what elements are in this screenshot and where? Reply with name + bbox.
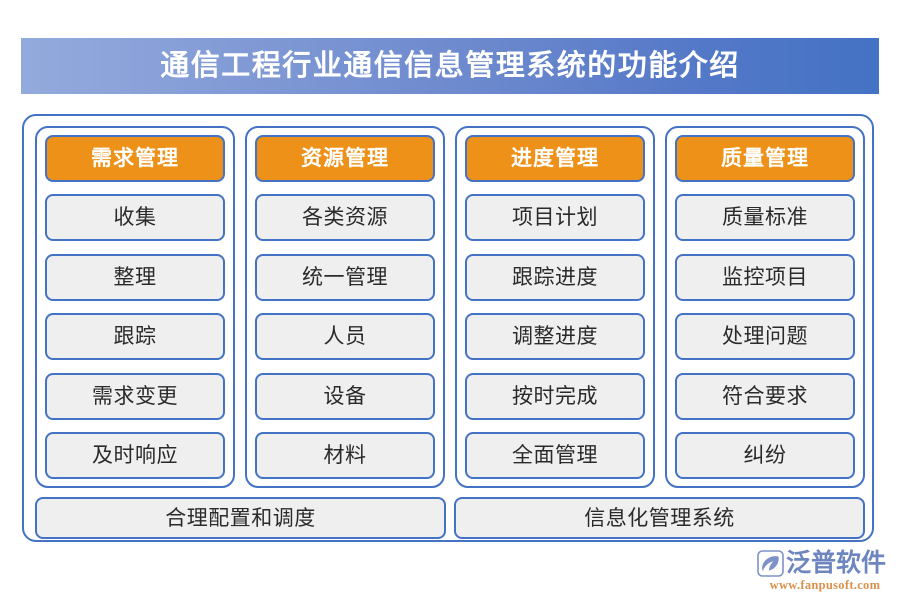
title-banner: 通信工程行业通信信息管理系统的功能介绍	[21, 38, 879, 94]
bottom-bar-resource-allocation[interactable]: 合理配置和调度	[35, 497, 446, 539]
column-3-item-5[interactable]: 全面管理	[465, 432, 645, 479]
slide-canvas: 通信工程行业通信信息管理系统的功能介绍 需求管理 收集 整理 跟踪 需求变更 及…	[0, 0, 900, 600]
column-header-4[interactable]: 质量管理	[675, 135, 855, 182]
column-progress-management: 进度管理 项目计划 跟踪进度 调整进度 按时完成 全面管理	[455, 126, 655, 488]
bottom-bars-row: 合理配置和调度 信息化管理系统	[35, 497, 865, 539]
column-requirement-management: 需求管理 收集 整理 跟踪 需求变更 及时响应	[35, 126, 235, 488]
bottom-bar-information-system[interactable]: 信息化管理系统	[454, 497, 865, 539]
column-3-item-1[interactable]: 项目计划	[465, 194, 645, 241]
column-2-item-3[interactable]: 人员	[255, 313, 435, 360]
column-quality-management: 质量管理 质量标准 监控项目 处理问题 符合要求 纠纷	[665, 126, 865, 488]
column-3-item-4[interactable]: 按时完成	[465, 373, 645, 420]
column-3-item-2[interactable]: 跟踪进度	[465, 254, 645, 301]
column-4-item-5[interactable]: 纠纷	[675, 432, 855, 479]
page-title: 通信工程行业通信信息管理系统的功能介绍	[160, 52, 740, 81]
logo-top-row: 泛普软件	[757, 548, 893, 578]
column-1-item-3[interactable]: 跟踪	[45, 313, 225, 360]
column-1-item-2[interactable]: 整理	[45, 254, 225, 301]
fanpu-swoosh-icon	[757, 550, 784, 577]
column-1-item-5[interactable]: 及时响应	[45, 432, 225, 479]
company-logo: 泛普软件 www.fanpusoft.com	[757, 548, 893, 592]
column-header-1[interactable]: 需求管理	[45, 135, 225, 182]
column-3-item-3[interactable]: 调整进度	[465, 313, 645, 360]
column-header-2[interactable]: 资源管理	[255, 135, 435, 182]
diagram-outer-frame: 需求管理 收集 整理 跟踪 需求变更 及时响应 资源管理 各类资源 统一管理 人…	[22, 114, 874, 542]
column-1-item-1[interactable]: 收集	[45, 194, 225, 241]
columns-row: 需求管理 收集 整理 跟踪 需求变更 及时响应 资源管理 各类资源 统一管理 人…	[35, 126, 865, 488]
column-4-item-2[interactable]: 监控项目	[675, 254, 855, 301]
logo-website-url: www.fanpusoft.com	[757, 579, 893, 592]
column-1-item-4[interactable]: 需求变更	[45, 373, 225, 420]
column-2-item-1[interactable]: 各类资源	[255, 194, 435, 241]
column-4-item-1[interactable]: 质量标准	[675, 194, 855, 241]
column-header-3[interactable]: 进度管理	[465, 135, 645, 182]
column-2-item-4[interactable]: 设备	[255, 373, 435, 420]
column-4-item-4[interactable]: 符合要求	[675, 373, 855, 420]
logo-company-name: 泛普软件	[786, 551, 886, 576]
column-4-item-3[interactable]: 处理问题	[675, 313, 855, 360]
column-2-item-5[interactable]: 材料	[255, 432, 435, 479]
column-resource-management: 资源管理 各类资源 统一管理 人员 设备 材料	[245, 126, 445, 488]
column-2-item-2[interactable]: 统一管理	[255, 254, 435, 301]
